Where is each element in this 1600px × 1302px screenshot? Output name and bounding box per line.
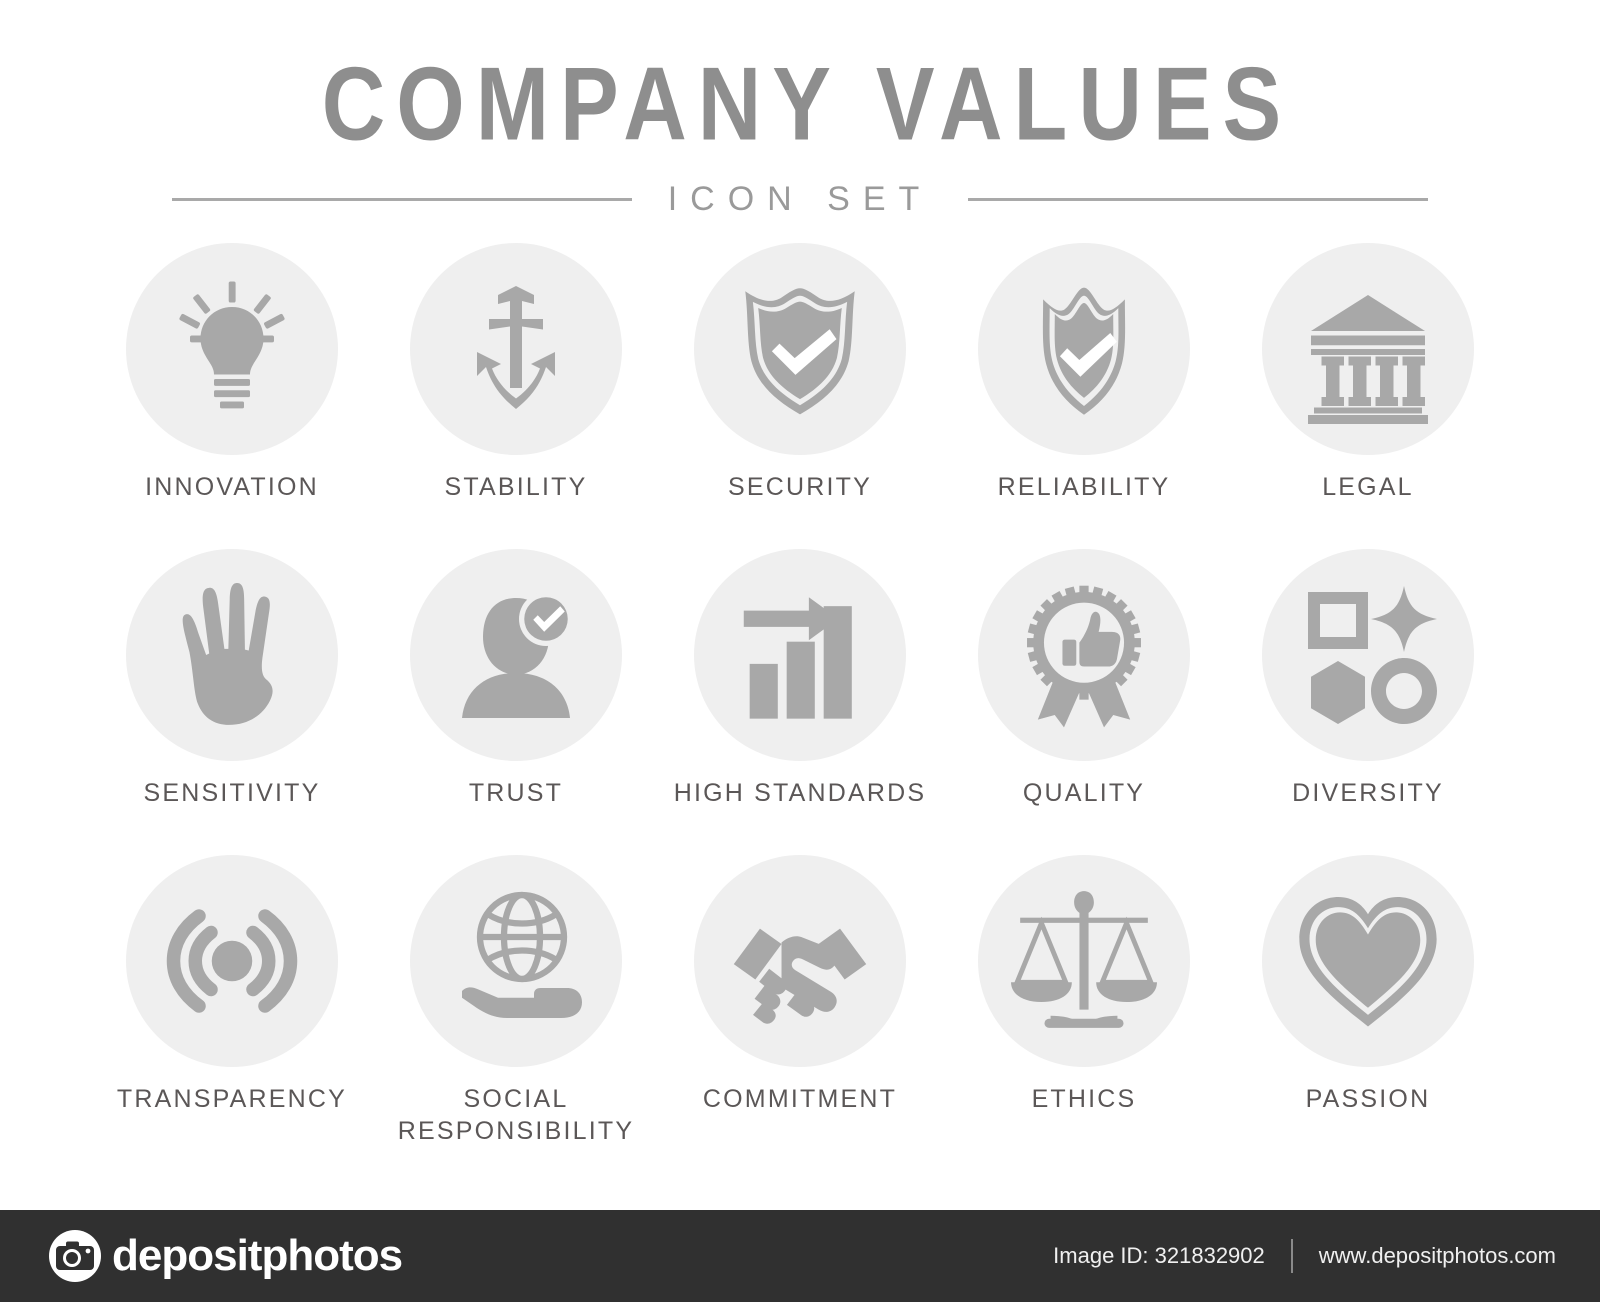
icon-circle: [694, 549, 906, 761]
value-label: HIGH STANDARDS: [674, 777, 927, 855]
value-card-commitment[interactable]: COMMITMENT: [658, 855, 942, 1163]
value-label: SENSITIVITY: [143, 777, 320, 855]
value-card-stability[interactable]: STABILITY: [374, 243, 658, 549]
icon-circle: [410, 855, 622, 1067]
icon-circle: [978, 549, 1190, 761]
value-card-sensitivity[interactable]: SENSITIVITY: [90, 549, 374, 855]
value-card-social-responsibility[interactable]: SOCIAL RESPONSIBILITY: [374, 855, 658, 1163]
balance-scales-icon: [1008, 885, 1160, 1037]
icon-circle: [694, 243, 906, 455]
open-hand-icon: [156, 579, 308, 731]
depositphotos-brand[interactable]: depositphotos: [48, 1229, 402, 1283]
value-card-innovation[interactable]: INNOVATION: [90, 243, 374, 549]
icon-circle: [1262, 855, 1474, 1067]
person-check-icon: [441, 580, 591, 730]
footer-meta: Image ID: 321832902 www.depositphotos.co…: [1053, 1239, 1556, 1273]
value-card-legal[interactable]: LEGAL: [1226, 243, 1510, 549]
anchor-icon: [441, 274, 591, 424]
camera-logo-icon: [48, 1229, 102, 1283]
value-card-reliability[interactable]: RELIABILITY: [942, 243, 1226, 549]
page-header: COMPANY VALUES ICON SET: [0, 0, 1600, 219]
value-label: INNOVATION: [145, 471, 319, 549]
value-card-ethics[interactable]: ETHICS: [942, 855, 1226, 1163]
icon-circle: [978, 855, 1190, 1067]
value-label: RELIABILITY: [998, 471, 1171, 549]
page-subtitle: ICON SET: [632, 180, 969, 219]
page-title: COMPANY VALUES: [0, 52, 1600, 156]
icon-circle: [126, 855, 338, 1067]
value-card-security[interactable]: SECURITY: [658, 243, 942, 549]
value-label: ETHICS: [1032, 1083, 1137, 1163]
shapes-icon: [1293, 580, 1443, 730]
value-label: STABILITY: [445, 471, 588, 549]
heart-icon: [1290, 883, 1446, 1039]
value-label: LEGAL: [1322, 471, 1414, 549]
value-label: COMMITMENT: [703, 1083, 897, 1163]
lightbulb-icon: [157, 274, 307, 424]
value-card-passion[interactable]: PASSION: [1226, 855, 1510, 1163]
icon-grid: INNOVATION STABILITY SECURITY: [0, 243, 1600, 1163]
brand-name: depositphotos: [112, 1231, 402, 1281]
subtitle-row: ICON SET: [0, 180, 1600, 219]
globe-in-hand-icon: [441, 886, 591, 1036]
value-label: SOCIAL RESPONSIBILITY: [398, 1083, 634, 1163]
icon-circle: [1262, 243, 1474, 455]
website-url[interactable]: www.depositphotos.com: [1319, 1243, 1556, 1269]
value-label: PASSION: [1306, 1083, 1431, 1163]
handshake-icon: [723, 884, 877, 1038]
divider-right: [968, 198, 1428, 201]
value-label: TRUST: [469, 777, 563, 855]
award-ribbon-thumbsup-icon: [1007, 578, 1161, 732]
icon-circle: [410, 243, 622, 455]
footer-separator: [1291, 1239, 1293, 1273]
image-id: Image ID: 321832902: [1053, 1243, 1265, 1269]
icon-circle: [1262, 549, 1474, 761]
divider-left: [172, 198, 632, 201]
value-card-trust[interactable]: TRUST: [374, 549, 658, 855]
value-card-transparency[interactable]: TRANSPARENCY: [90, 855, 374, 1163]
icon-circle: [410, 549, 622, 761]
value-label: TRANSPARENCY: [117, 1083, 347, 1163]
value-card-high-standards[interactable]: HIGH STANDARDS: [658, 549, 942, 855]
value-label: QUALITY: [1023, 777, 1145, 855]
icon-circle: [978, 243, 1190, 455]
icon-circle: [126, 243, 338, 455]
shield-check-icon: [724, 273, 876, 425]
shield-check-outline-icon: [1011, 276, 1157, 422]
icon-circle: [126, 549, 338, 761]
value-card-quality[interactable]: QUALITY: [942, 549, 1226, 855]
signal-waves-icon: [157, 886, 307, 1036]
value-label: DIVERSITY: [1292, 777, 1444, 855]
bar-chart-arrow-icon: [726, 581, 874, 729]
courthouse-icon: [1293, 274, 1443, 424]
icon-circle: [694, 855, 906, 1067]
footer-bar: depositphotos Image ID: 321832902 www.de…: [0, 1210, 1600, 1302]
value-label: SECURITY: [728, 471, 872, 549]
value-card-diversity[interactable]: DIVERSITY: [1226, 549, 1510, 855]
